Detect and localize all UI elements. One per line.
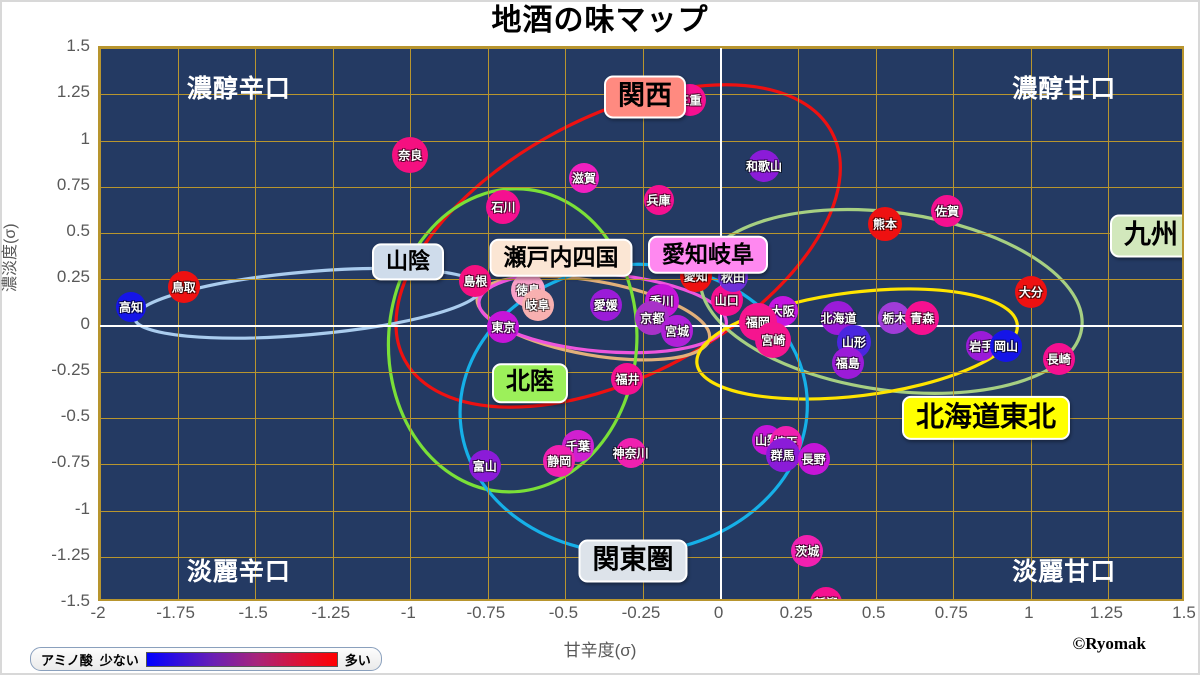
x-tick-label: 0.5 xyxy=(862,603,886,623)
group-label-kansai[interactable]: 関西 xyxy=(604,75,686,118)
grid-line-vertical xyxy=(953,48,954,599)
data-point-label: 石川 xyxy=(491,199,515,216)
x-tick-label: -1 xyxy=(401,603,416,623)
data-point-bubble[interactable]: 静岡 xyxy=(543,445,575,477)
data-point-bubble[interactable]: 大分 xyxy=(1015,276,1047,308)
y-tick-label: 0.5 xyxy=(66,221,90,241)
plot-area: 濃醇辛口濃醇甘口淡麗辛口淡麗甘口高知鳥取奈良石川滋賀三重兵庫和歌山熊本佐賀島根徳… xyxy=(98,46,1184,601)
grid-line-vertical xyxy=(798,48,799,599)
data-point-bubble[interactable]: 岡山 xyxy=(990,330,1022,362)
data-point-label: 長崎 xyxy=(1047,350,1071,367)
x-tick-label: 1.25 xyxy=(1090,603,1123,623)
data-point-label: 福井 xyxy=(615,371,639,388)
y-tick-label: 0.75 xyxy=(57,175,90,195)
data-point-bubble[interactable]: 宮崎 xyxy=(755,322,791,358)
data-point-label: 山口 xyxy=(715,291,739,308)
data-point-bubble[interactable]: 群馬 xyxy=(766,438,800,472)
data-point-label: 福島 xyxy=(836,354,860,371)
grid-line-vertical xyxy=(565,48,566,599)
grid-line-vertical xyxy=(178,48,179,599)
data-point-bubble[interactable]: 岐阜 xyxy=(522,289,554,321)
group-label-hokuriku[interactable]: 北陸 xyxy=(492,363,568,403)
data-point-label: 熊本 xyxy=(873,215,897,232)
data-point-bubble[interactable]: 茨城 xyxy=(791,535,823,567)
x-tick-label: 1 xyxy=(1024,603,1033,623)
x-tick-label: 0.25 xyxy=(780,603,813,623)
data-point-bubble[interactable]: 佐賀 xyxy=(931,195,963,227)
chart-frame: 地酒の味マップ 1.51.2510.750.50.250-0.25-0.5-0.… xyxy=(0,0,1200,675)
data-point-bubble[interactable]: 富山 xyxy=(469,450,501,482)
data-point-label: 富山 xyxy=(473,458,497,475)
x-tick-label: -2 xyxy=(90,603,105,623)
grid-line-horizontal xyxy=(100,141,1182,142)
x-tick-label: -0.75 xyxy=(466,603,505,623)
y-axis-zero-line xyxy=(720,48,722,599)
x-tick-label: -0.5 xyxy=(549,603,578,623)
x-tick-label: -1.75 xyxy=(156,603,195,623)
legend-gradient-bar xyxy=(146,652,338,667)
y-tick-label: 1.5 xyxy=(66,36,90,56)
data-point-bubble[interactable]: 島根 xyxy=(459,265,491,297)
data-point-label: 東京 xyxy=(491,319,515,336)
quadrant-label-light-dry: 淡麗辛口 xyxy=(187,552,291,588)
y-tick-label: -0.5 xyxy=(61,406,90,426)
data-point-label: 青森 xyxy=(910,310,934,327)
data-point-label: 和歌山 xyxy=(746,158,782,175)
x-tick-label: 0.75 xyxy=(935,603,968,623)
data-point-label: 茨城 xyxy=(795,543,819,560)
grid-line-vertical xyxy=(1108,48,1109,599)
data-point-bubble[interactable]: 神奈川 xyxy=(616,438,646,468)
data-point-bubble[interactable]: 長野 xyxy=(798,443,830,475)
grid-line-horizontal xyxy=(100,464,1182,465)
grid-line-horizontal xyxy=(100,48,1182,49)
group-label-kyushu[interactable]: 九州 xyxy=(1110,214,1184,257)
group-label-hokkaidotohoku[interactable]: 北海道東北 xyxy=(902,396,1070,440)
data-point-label: 新潟 xyxy=(814,595,838,602)
data-point-bubble[interactable]: 新潟 xyxy=(810,587,842,601)
grid-line-vertical xyxy=(100,48,101,599)
grid-line-horizontal xyxy=(100,187,1182,188)
x-tick-label: -1.25 xyxy=(311,603,350,623)
y-tick-label: -1.5 xyxy=(61,591,90,611)
y-tick-label: -1.25 xyxy=(51,545,90,565)
data-point-bubble[interactable]: 東京 xyxy=(487,311,519,343)
data-point-label: 兵庫 xyxy=(646,191,670,208)
data-point-label: 滋賀 xyxy=(572,169,596,186)
y-tick-label: 0 xyxy=(81,314,90,334)
group-label-aichigifu[interactable]: 愛知岐阜 xyxy=(648,236,768,274)
x-tick-label: 1.5 xyxy=(1172,603,1196,623)
quadrant-label-light-sweet: 淡麗甘口 xyxy=(1012,552,1116,588)
data-point-label: 長野 xyxy=(802,450,826,467)
data-point-label: 島根 xyxy=(463,273,487,290)
amino-acid-colorbar-legend: アミノ酸 少ない 多い xyxy=(30,647,382,671)
data-point-label: 静岡 xyxy=(547,452,571,469)
data-point-bubble[interactable]: 青森 xyxy=(905,301,939,335)
grid-line-horizontal xyxy=(100,511,1182,512)
data-point-bubble[interactable]: 高知 xyxy=(116,292,146,322)
data-point-label: 北海道 xyxy=(820,310,856,327)
quadrant-label-rich-sweet: 濃醇甘口 xyxy=(1012,69,1116,105)
grid-line-vertical xyxy=(410,48,411,599)
y-tick-label: -1 xyxy=(75,499,90,519)
x-tick-label: 0 xyxy=(714,603,723,623)
data-point-bubble[interactable]: 福井 xyxy=(611,363,643,395)
data-point-bubble[interactable]: 長崎 xyxy=(1043,343,1075,375)
grid-line-vertical xyxy=(876,48,877,599)
y-tick-label: -0.75 xyxy=(51,452,90,472)
data-point-label: 大分 xyxy=(1019,284,1043,301)
data-point-label: 群馬 xyxy=(771,447,795,464)
quadrant-label-rich-dry: 濃醇辛口 xyxy=(187,69,291,105)
data-point-label: 神奈川 xyxy=(613,445,649,462)
data-point-bubble[interactable]: 宮城 xyxy=(661,315,693,347)
data-point-label: 栃木 xyxy=(882,310,906,327)
x-tick-label: -1.5 xyxy=(238,603,267,623)
grid-line-vertical xyxy=(255,48,256,599)
x-axis-tick-labels: -2-1.75-1.5-1.25-1-0.75-0.5-0.2500.250.5… xyxy=(98,603,1184,629)
data-point-label: 宮崎 xyxy=(761,332,785,349)
data-point-bubble[interactable]: 愛媛 xyxy=(590,289,622,321)
grid-line-vertical xyxy=(1031,48,1032,599)
y-tick-label: 0.25 xyxy=(57,267,90,287)
y-axis-title: 濃淡度(σ) xyxy=(0,223,20,292)
data-point-bubble[interactable]: 兵庫 xyxy=(644,185,674,215)
y-tick-label: 1.25 xyxy=(57,82,90,102)
legend-low-label: 少ない xyxy=(100,650,139,669)
grid-line-vertical xyxy=(333,48,334,599)
data-point-label: 岐阜 xyxy=(525,297,549,314)
data-point-bubble[interactable]: 和歌山 xyxy=(748,150,780,182)
group-label-setouchi[interactable]: 瀬戸内四国 xyxy=(490,239,633,277)
y-tick-label: 1 xyxy=(81,129,90,149)
data-point-bubble[interactable]: 奈良 xyxy=(392,137,428,173)
data-point-label: 京都 xyxy=(640,310,664,327)
y-axis-tick-labels: 1.51.2510.750.50.250-0.25-0.5-0.75-1-1.2… xyxy=(2,2,98,601)
chart-title: 地酒の味マップ xyxy=(2,4,1198,38)
data-point-label: 奈良 xyxy=(398,147,422,164)
data-point-label: 宮城 xyxy=(665,323,689,340)
data-point-label: 佐賀 xyxy=(935,202,959,219)
group-ellipse xyxy=(450,253,817,565)
data-point-bubble[interactable]: 滋賀 xyxy=(569,163,599,193)
data-point-bubble[interactable]: 熊本 xyxy=(868,207,902,241)
data-point-bubble[interactable]: 石川 xyxy=(486,190,520,224)
data-point-label: 愛媛 xyxy=(594,297,618,314)
data-point-bubble[interactable]: 鳥取 xyxy=(168,271,200,303)
data-point-label: 岡山 xyxy=(994,337,1018,354)
group-label-sanin[interactable]: 山陰 xyxy=(372,243,444,280)
data-point-label: 鳥取 xyxy=(172,278,196,295)
legend-title: アミノ酸 xyxy=(41,650,93,669)
y-tick-label: -0.25 xyxy=(51,360,90,380)
copyright-label: ©Ryomak xyxy=(1073,634,1147,654)
legend-high-label: 多い xyxy=(345,650,371,669)
data-point-label: 高知 xyxy=(119,299,143,316)
data-point-bubble[interactable]: 福島 xyxy=(832,347,864,379)
group-label-kanto[interactable]: 関東圏 xyxy=(579,539,688,582)
grid-line-horizontal xyxy=(100,233,1182,234)
x-tick-label: -0.25 xyxy=(622,603,661,623)
